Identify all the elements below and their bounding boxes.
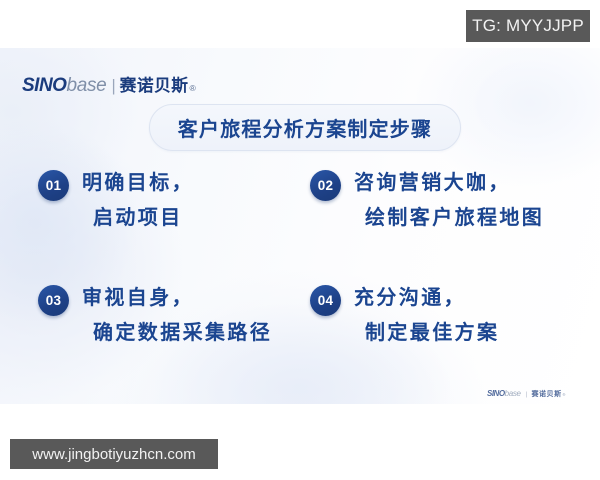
step-text: 充分沟通， 制定最佳方案: [354, 281, 499, 351]
step-text-line1: 充分沟通，: [354, 281, 499, 316]
step-item-04: 04 充分沟通， 制定最佳方案: [310, 281, 499, 351]
step-item-01: 01 明确目标， 启动项目: [38, 166, 194, 236]
step-text-line2: 启动项目: [93, 201, 194, 236]
page-title: 客户旅程分析方案制定步骤: [178, 113, 432, 142]
brand-logo-sino: SINO: [22, 75, 66, 97]
step-text-line1: 明确目标，: [82, 166, 194, 201]
step-text-line2: 制定最佳方案: [365, 316, 499, 351]
step-text-line1: 咨询营销大咖，: [354, 166, 544, 201]
step-number-badge: 01: [38, 170, 69, 201]
step-text: 明确目标， 启动项目: [82, 166, 194, 236]
step-number-badge: 04: [310, 285, 341, 316]
slide-canvas: SINObase|赛诺贝斯® 客户旅程分析方案制定步骤 01 明确目标， 启动项…: [0, 48, 600, 404]
step-text-line2: 确定数据采集路径: [93, 316, 272, 351]
brand-logo-footer-base: base: [505, 389, 521, 398]
registered-mark-icon: ®: [189, 83, 195, 93]
brand-logo-footer-separator: |: [526, 391, 528, 398]
step-text: 审视自身， 确定数据采集路径: [82, 281, 272, 351]
brand-logo-separator: |: [111, 77, 115, 96]
step-text: 咨询营销大咖， 绘制客户旅程地图: [354, 166, 544, 236]
step-item-03: 03 审视自身， 确定数据采集路径: [38, 281, 272, 351]
brand-logo-chinese: 赛诺贝斯: [120, 72, 189, 96]
top-watermark-badge: TG: MYYJJPP: [466, 10, 590, 42]
brand-logo-base: base: [66, 75, 106, 97]
brand-logo-footer-sino: SINO: [487, 389, 505, 398]
step-text-line1: 审视自身，: [82, 281, 272, 316]
brand-logo: SINObase|赛诺贝斯®: [22, 72, 196, 97]
registered-mark-footer-icon: ®: [563, 393, 566, 397]
slide-title-pill: 客户旅程分析方案制定步骤: [149, 104, 461, 151]
step-number-badge: 02: [310, 170, 341, 201]
step-text-line2: 绘制客户旅程地图: [365, 201, 544, 236]
brand-logo-footer: SINObase|赛诺贝斯®: [487, 389, 565, 399]
step-number-badge: 03: [38, 285, 69, 316]
bottom-watermark-badge: www.jingbotiyuzhcn.com: [10, 439, 218, 469]
brand-logo-footer-chinese: 赛诺贝斯: [531, 389, 561, 399]
step-item-02: 02 咨询营销大咖， 绘制客户旅程地图: [310, 166, 544, 236]
